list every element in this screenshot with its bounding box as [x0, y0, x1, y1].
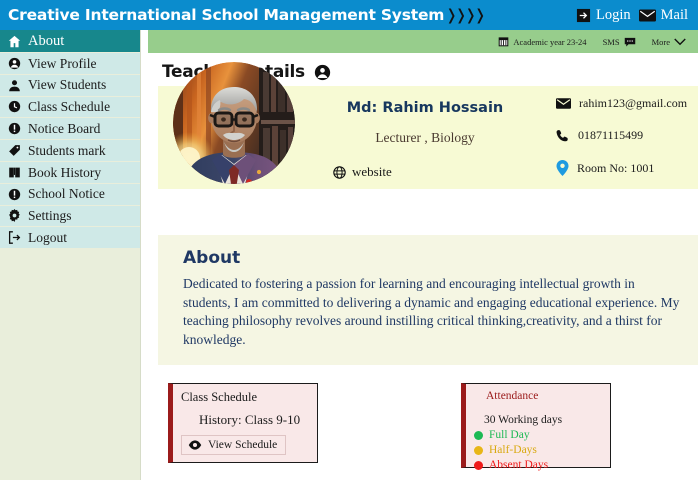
- legend-label: Absent Days: [489, 458, 548, 473]
- sms-label: SMS: [603, 37, 620, 47]
- contact-email[interactable]: rahim123@gmail.com: [556, 96, 687, 111]
- view-schedule-button[interactable]: View Schedule: [181, 435, 286, 455]
- legend-label: Half-Days: [489, 443, 537, 458]
- legend-label: Full Day: [489, 428, 530, 443]
- contact-list: rahim123@gmail.com 01871115499 Room No: …: [556, 96, 687, 176]
- about-section: About Dedicated to fostering a passion f…: [158, 235, 698, 365]
- sidebar-item-settings[interactable]: Settings: [0, 206, 140, 228]
- book-icon: [7, 166, 22, 179]
- sidebar-item-logout[interactable]: Logout: [0, 227, 140, 249]
- class-schedule-card-title: Class Schedule: [173, 384, 317, 405]
- view-schedule-label: View Schedule: [208, 439, 277, 451]
- sidebar-item-book-history[interactable]: Book History: [0, 162, 140, 184]
- attendance-card: Attendance 30 Working days Full Day Half…: [461, 383, 611, 468]
- user-circle-icon: [314, 64, 331, 81]
- phone-icon: [556, 129, 570, 143]
- working-days: 30 Working days: [466, 402, 610, 428]
- teacher-role: Lecturer , Biology: [300, 130, 550, 146]
- info-circle-icon: [7, 122, 22, 135]
- sidebar-item-students-mark[interactable]: Students mark: [0, 140, 140, 162]
- envelope-icon: [639, 9, 656, 22]
- app-header: Creative International School Management…: [0, 0, 698, 30]
- calendar-icon: [498, 36, 509, 47]
- sidebar-item-class-schedule[interactable]: Class Schedule: [0, 97, 140, 119]
- more-label: More: [652, 37, 670, 47]
- sidebar: About View Profile View Students Class S…: [0, 30, 141, 480]
- teacher-name: Md: Rahim Hossain: [300, 100, 550, 116]
- sidebar-item-label: Book History: [28, 166, 101, 180]
- contact-room: Room No: 1001: [556, 160, 687, 176]
- attendance-card-title: Attendance: [466, 384, 610, 402]
- gear-icon: [7, 209, 22, 222]
- sidebar-item-school-notice[interactable]: School Notice: [0, 184, 140, 206]
- context-bar: Academic year 23-24 SMS More: [148, 30, 698, 53]
- app-title: Creative International School Management…: [8, 6, 444, 24]
- eye-icon: [188, 440, 202, 450]
- chevrons-decoration: ❭❭❭❭: [445, 6, 483, 24]
- contact-phone[interactable]: 01871115499: [556, 128, 687, 143]
- login-button[interactable]: Login: [576, 7, 631, 24]
- globe-icon: [333, 166, 346, 179]
- sidebar-item-label: Class Schedule: [28, 100, 110, 114]
- contact-value: Room No: 1001: [577, 161, 654, 176]
- mail-button[interactable]: Mail: [639, 7, 688, 24]
- more-menu[interactable]: More: [652, 37, 686, 47]
- user-circle-icon: [7, 57, 22, 70]
- envelope-icon: [556, 98, 571, 109]
- sidebar-item-label: School Notice: [28, 187, 105, 201]
- brand: Creative International School Management…: [8, 6, 484, 24]
- info-circle-icon: [7, 188, 22, 201]
- sms-button[interactable]: SMS: [603, 37, 636, 47]
- main-content: Teacher Details Md: Rahim Hossain Lectur…: [148, 53, 698, 480]
- home-icon: [7, 35, 22, 48]
- login-label: Login: [596, 7, 631, 24]
- location-pin-icon: [556, 160, 569, 176]
- teacher-portrait-avatar: [173, 62, 295, 184]
- tag-icon: [7, 144, 22, 157]
- website-link[interactable]: website: [333, 164, 392, 180]
- clock-icon: [7, 100, 22, 113]
- sidebar-item-label: View Students: [28, 78, 106, 92]
- logout-icon: [7, 231, 22, 244]
- sidebar-item-about[interactable]: About: [0, 30, 140, 53]
- status-dot-absent-days: [474, 461, 483, 470]
- avatar: [173, 62, 295, 184]
- website-label: website: [352, 164, 392, 180]
- status-dot-half-days: [474, 446, 483, 455]
- academic-year-selector[interactable]: Academic year 23-24: [498, 36, 586, 47]
- sidebar-item-label: Notice Board: [28, 122, 100, 136]
- sidebar-item-label: About: [28, 34, 64, 49]
- class-schedule-detail: History: Class 9-10: [173, 405, 317, 428]
- sign-in-icon: [576, 8, 591, 23]
- chat-icon: [624, 37, 636, 47]
- contact-value: 01871115499: [578, 128, 643, 143]
- legend-item-half-days: Half-Days: [466, 443, 610, 458]
- sidebar-item-label: Settings: [28, 209, 72, 223]
- class-schedule-card: Class Schedule History: Class 9-10 View …: [168, 383, 318, 463]
- academic-year-label: Academic year 23-24: [513, 37, 586, 47]
- about-body: Dedicated to fostering a passion for lea…: [183, 275, 683, 349]
- mail-label: Mail: [661, 7, 688, 24]
- legend-item-full-day: Full Day: [466, 428, 610, 443]
- sidebar-item-view-profile[interactable]: View Profile: [0, 53, 140, 75]
- contact-value: rahim123@gmail.com: [579, 96, 687, 111]
- sidebar-item-label: Students mark: [28, 144, 106, 158]
- user-icon: [7, 79, 22, 92]
- sidebar-item-label: View Profile: [28, 57, 97, 71]
- about-title: About: [183, 248, 240, 268]
- sidebar-item-notice-board[interactable]: Notice Board: [0, 118, 140, 140]
- chevron-down-icon: [674, 38, 686, 46]
- legend-item-absent-days: Absent Days: [466, 458, 610, 473]
- status-dot-full-day: [474, 431, 483, 440]
- sidebar-item-view-students[interactable]: View Students: [0, 75, 140, 97]
- header-actions: Login Mail: [576, 0, 688, 30]
- sidebar-item-label: Logout: [28, 231, 67, 245]
